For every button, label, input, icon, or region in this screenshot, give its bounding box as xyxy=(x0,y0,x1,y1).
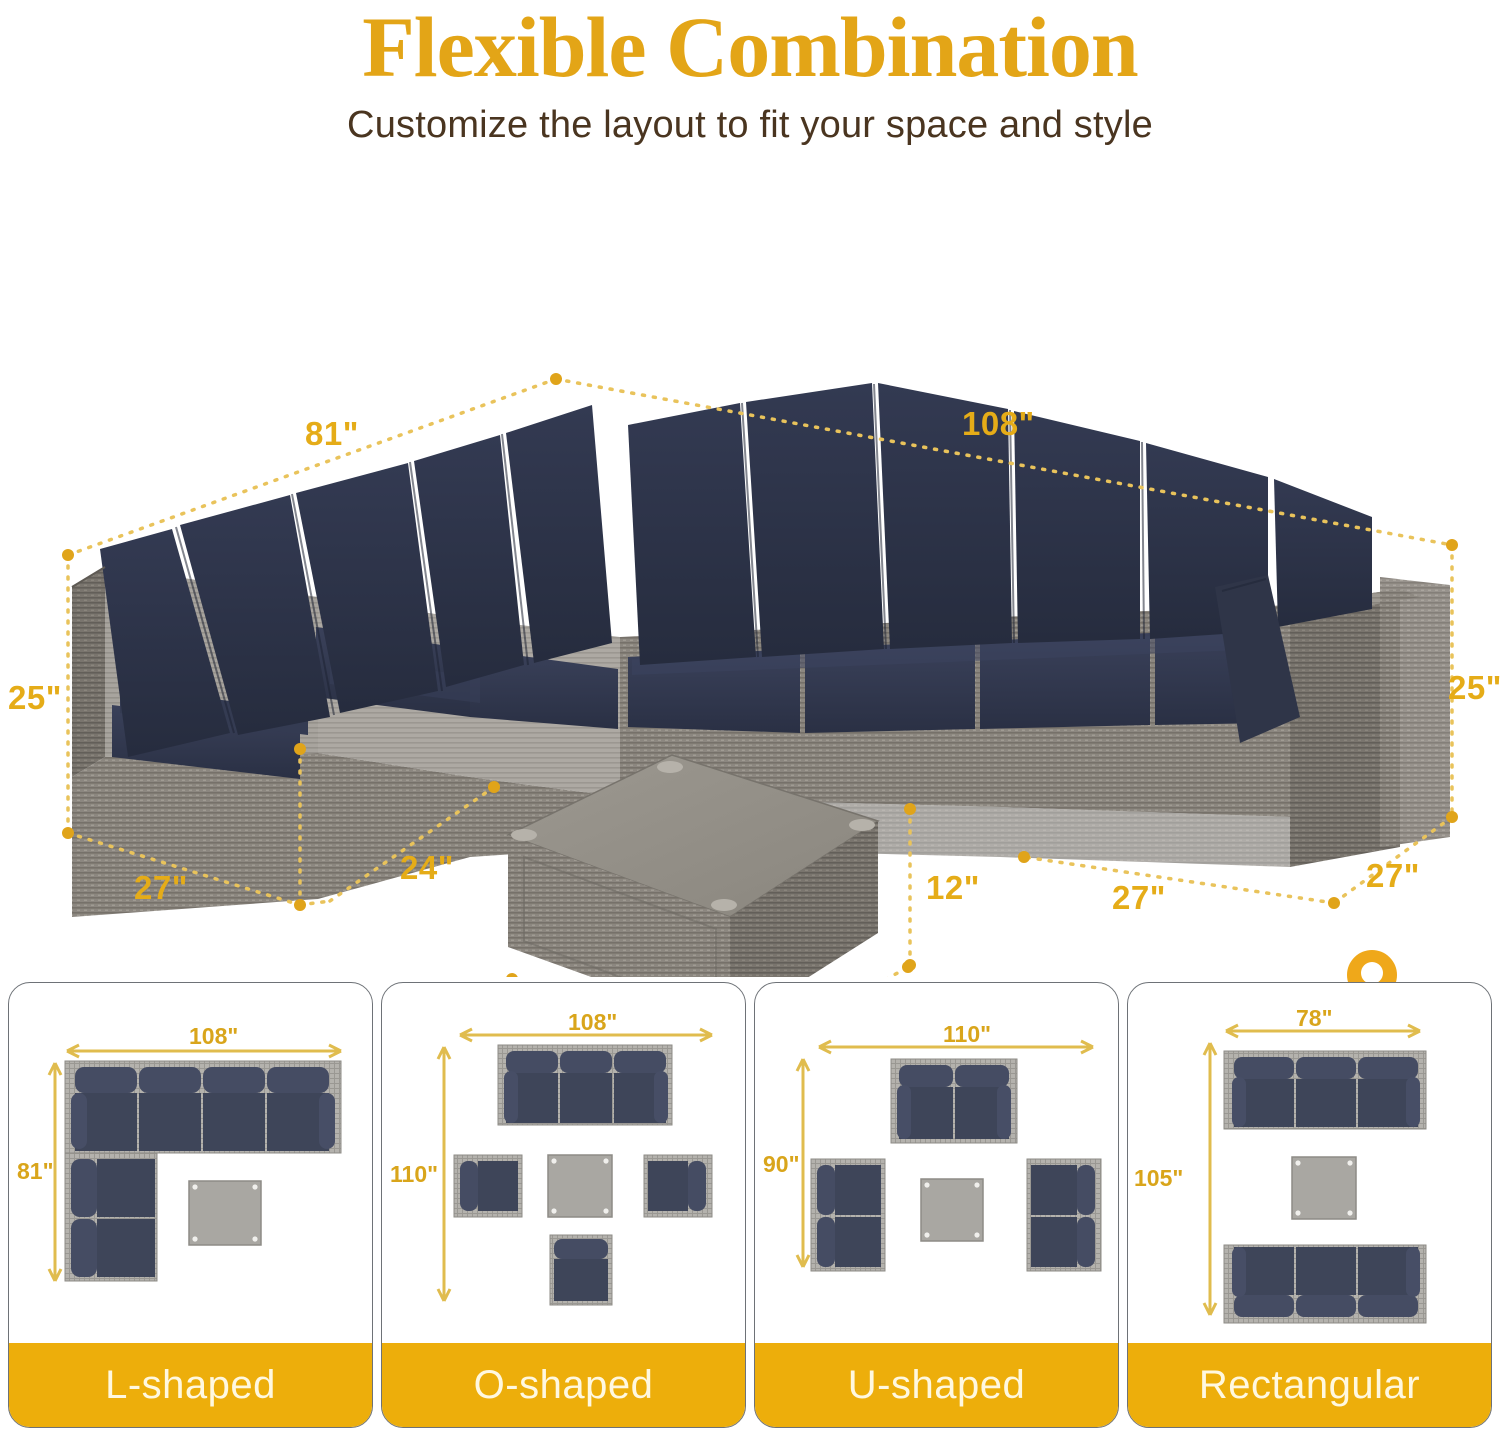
layout-width-dim-u-shaped: 110" xyxy=(943,1021,991,1048)
layout-card-u-shaped[interactable]: 110" 90" U-shaped xyxy=(754,982,1119,1428)
dim-label-left-depth: 81" xyxy=(305,415,359,453)
layout-figure-l-shaped: 108" 81" xyxy=(9,983,372,1343)
layout-figure-rectangular: 78" 105" xyxy=(1128,983,1491,1343)
layout-width-dim-l-shaped: 108" xyxy=(189,1023,238,1050)
layout-width-dim-o-shaped: 108" xyxy=(568,1009,617,1036)
dim-label-left-height: 25" xyxy=(8,679,62,717)
dim-label-right-height: 25" xyxy=(1448,669,1500,707)
u-shaped-top-view xyxy=(755,983,1115,1343)
layout-card-l-shaped[interactable]: 108" 81" L-shaped xyxy=(8,982,373,1428)
layout-label-bar-rectangular: Rectangular xyxy=(1128,1343,1491,1427)
rectangular-top-view xyxy=(1128,983,1488,1343)
layout-label-bar-l-shaped: L-shaped xyxy=(9,1343,372,1427)
header: Flexible Combination Customize the layou… xyxy=(0,0,1500,147)
dim-label-right-width: 108" xyxy=(962,405,1035,443)
layout-options-list: 108" 81" L-shaped xyxy=(8,982,1492,1428)
hero-product-illustration: 81" 108" 25" 25" 27" 24" 27" 27" 12" 24"… xyxy=(0,157,1500,977)
dim-label-right-seat-width: 27" xyxy=(1112,879,1166,917)
dim-label-left-seat-width: 24" xyxy=(400,849,454,887)
sectional-sofa-diagram xyxy=(0,157,1500,977)
layout-figure-o-shaped: 108" 110" xyxy=(382,983,745,1343)
dim-label-table-height: 12" xyxy=(926,869,980,907)
layout-height-dim-l-shaped: 81" xyxy=(17,1158,54,1185)
layout-label-bar-o-shaped: O-shaped xyxy=(382,1343,745,1427)
layout-label-rectangular: Rectangular xyxy=(1199,1363,1420,1408)
layout-figure-u-shaped: 110" 90" xyxy=(755,983,1118,1343)
layout-label-bar-u-shaped: U-shaped xyxy=(755,1343,1118,1427)
layout-label-o-shaped: O-shaped xyxy=(474,1363,654,1408)
layout-label-l-shaped: L-shaped xyxy=(105,1363,276,1408)
page-title: Flexible Combination xyxy=(0,4,1500,90)
dim-label-left-front-depth: 27" xyxy=(134,869,188,907)
layout-label-u-shaped: U-shaped xyxy=(848,1363,1025,1408)
layout-height-dim-o-shaped: 110" xyxy=(390,1161,438,1188)
layout-height-dim-u-shaped: 90" xyxy=(763,1151,800,1178)
dim-label-right-front-depth: 27" xyxy=(1366,857,1420,895)
layout-card-o-shaped[interactable]: 108" 110" O-shaped xyxy=(381,982,746,1428)
layout-height-dim-rectangular: 105" xyxy=(1134,1165,1183,1192)
layout-card-rectangular[interactable]: 78" 105" Rectangular xyxy=(1127,982,1492,1428)
layout-width-dim-rectangular: 78" xyxy=(1296,1005,1333,1032)
page-subtitle: Customize the layout to fit your space a… xyxy=(0,104,1500,147)
